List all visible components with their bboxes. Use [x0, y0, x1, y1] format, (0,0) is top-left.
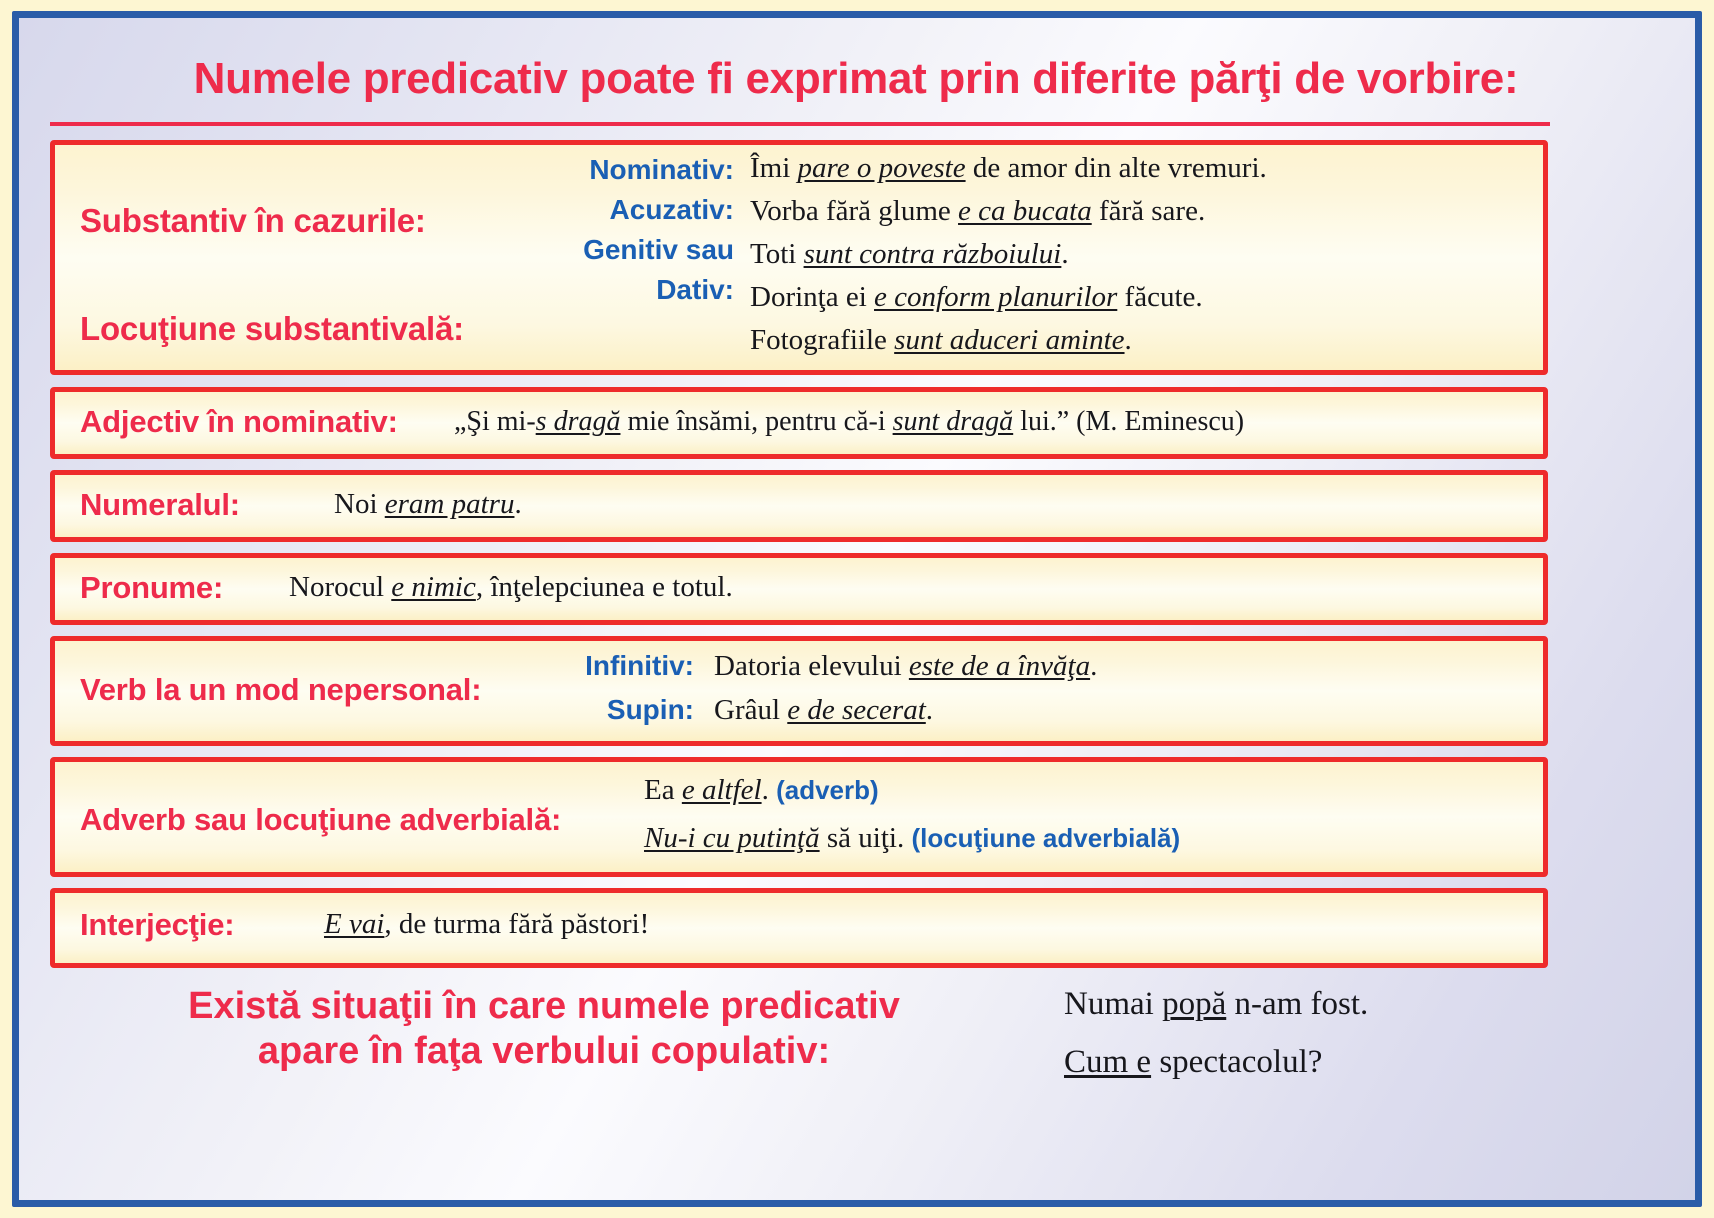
ex-pre: Toti: [750, 238, 804, 270]
row-pronume: [50, 553, 1548, 625]
case-nominativ: Nominativ:: [474, 154, 734, 186]
ex-np: sunt contra războiului: [804, 238, 1062, 270]
ex-post: făcute.: [1117, 281, 1202, 313]
label-pronume: Pronume:: [80, 570, 223, 606]
page-title: Numele predicativ poate fi exprimat prin…: [46, 54, 1666, 104]
case-acuzativ: Acuzativ:: [474, 194, 734, 226]
ex-post: .: [1061, 238, 1068, 270]
label-verb-nepersonal: Verb la un mod nepersonal:: [80, 672, 481, 708]
ex-pre: Dorinţa ei: [750, 281, 874, 313]
label-adjectiv: Adjectiv în nominativ:: [80, 404, 398, 440]
ex-pre: Fotografiile: [750, 324, 894, 356]
ex-pre: Datoria elevului: [714, 650, 909, 682]
case-genitiv: Genitiv sau: [474, 234, 734, 266]
ex-np: e conform planurilor: [874, 281, 1117, 313]
ex-np: popă: [1162, 986, 1226, 1022]
poster-content: Numele predicativ poate fi exprimat prin…: [24, 22, 1690, 1196]
ex-np: E vai: [324, 908, 384, 940]
ex-post: fără sare.: [1092, 195, 1206, 227]
ex-post: .: [926, 694, 933, 726]
row-numeralul: [50, 470, 1548, 542]
label-locutiune-substantivala: Locuţiune substantivală:: [80, 310, 464, 348]
ex-pre: Norocul: [289, 571, 391, 603]
conclusion-line-1: Există situaţii în care numele predicati…: [54, 984, 1034, 1029]
ex-np: sunt aduceri aminte: [894, 324, 1124, 356]
example-adverb: Ea e altfel. (adverb): [644, 774, 879, 807]
tag-locutiune-adverbiala: (locuţiune adverbială): [911, 823, 1180, 853]
example-pronume: Norocul e nimic, înţelepciunea e totul.: [289, 571, 733, 604]
example-locutiune-substantivala: Fotografiile sunt aduceri aminte.: [750, 324, 1132, 357]
case-dativ: Dativ:: [474, 274, 734, 306]
ex-pre: Ea: [644, 774, 682, 806]
ex-post: .: [1125, 324, 1132, 356]
ex-np: pare o poveste: [798, 152, 966, 184]
example-supin: Grâul e de secerat.: [714, 694, 933, 727]
ex-np: e altfel: [682, 774, 762, 806]
ex-pre: Grâul: [714, 694, 787, 726]
label-numeralul: Numeralul:: [80, 487, 240, 523]
ex-pre: Noi: [334, 488, 385, 520]
ex-np: e ca bucata: [958, 195, 1092, 227]
example-adjectiv: „Şi mi-s dragă mie însămi, pentru că-i s…: [454, 406, 1244, 438]
title-underline: [50, 122, 1550, 126]
conclusion-example-1: Numai popă n-am fost.: [1064, 984, 1368, 1025]
ex-post: spectacolul?: [1151, 1044, 1322, 1080]
example-infinitiv: Datoria elevului este de a învăţa.: [714, 650, 1097, 683]
ex-np2: sunt dragă: [893, 406, 1014, 437]
example-genitiv: Toti sunt contra războiului.: [750, 238, 1069, 271]
case-supin: Supin:: [514, 694, 694, 726]
ex-post: n-am fost.: [1226, 986, 1368, 1022]
ex-np: s dragă: [536, 406, 621, 437]
ex-post: .: [762, 774, 777, 806]
ex-np: e nimic: [391, 571, 476, 603]
ex-post: .: [1090, 650, 1097, 682]
ex-np: este de a învăţa: [909, 650, 1090, 682]
example-acuzativ: Vorba fără glume e ca bucata fără sare.: [750, 195, 1205, 228]
ex-pre: Îmi: [750, 152, 798, 184]
ex-mid: mie însămi, pentru că-i: [620, 406, 892, 437]
poster-root: Numele predicativ poate fi exprimat prin…: [0, 0, 1714, 1218]
example-numeralul: Noi eram patru.: [334, 488, 522, 521]
label-interjectie: Interjecţie:: [80, 907, 234, 943]
ex-post: de amor din alte vremuri.: [966, 152, 1267, 184]
example-locutiune-adverbiala: Nu-i cu putinţă să uiţi. (locuţiune adve…: [644, 822, 1180, 855]
ex-post: , înţelepciunea e totul.: [476, 571, 733, 603]
ex-post: lui.” (M. Eminescu): [1013, 406, 1244, 437]
ex-np: Cum e: [1064, 1044, 1151, 1080]
case-infinitiv: Infinitiv:: [514, 650, 694, 682]
ex-post: .: [514, 488, 521, 520]
ex-np: Nu-i cu putinţă: [644, 822, 820, 854]
example-interjectie: E vai, de turma fără păstori!: [324, 908, 649, 941]
ex-np: eram patru: [385, 488, 515, 520]
conclusion-example-2: Cum e spectacolul?: [1064, 1042, 1322, 1083]
tag-adverb: (adverb): [776, 775, 879, 805]
example-nominativ: Îmi pare o poveste de amor din alte vrem…: [750, 152, 1267, 185]
ex-pre: Vorba fără glume: [750, 195, 958, 227]
ex-post: , de turma fără păstori!: [384, 908, 649, 940]
label-adverb: Adverb sau locuţiune adverbială:: [80, 802, 561, 838]
ex-pre: Numai: [1064, 986, 1162, 1022]
conclusion-text: Există situaţii în care numele predicati…: [54, 984, 1034, 1074]
conclusion-line-2: apare în faţa verbului copulativ:: [54, 1029, 1034, 1074]
row-interjectie: [50, 888, 1548, 968]
ex-np: e de secerat: [787, 694, 926, 726]
ex-post: să uiţi.: [820, 822, 912, 854]
example-dativ: Dorinţa ei e conform planurilor făcute.: [750, 281, 1203, 314]
label-substantiv-cazuri: Substantiv în cazurile:: [80, 202, 426, 240]
ex-pre: „Şi mi-: [454, 406, 536, 437]
